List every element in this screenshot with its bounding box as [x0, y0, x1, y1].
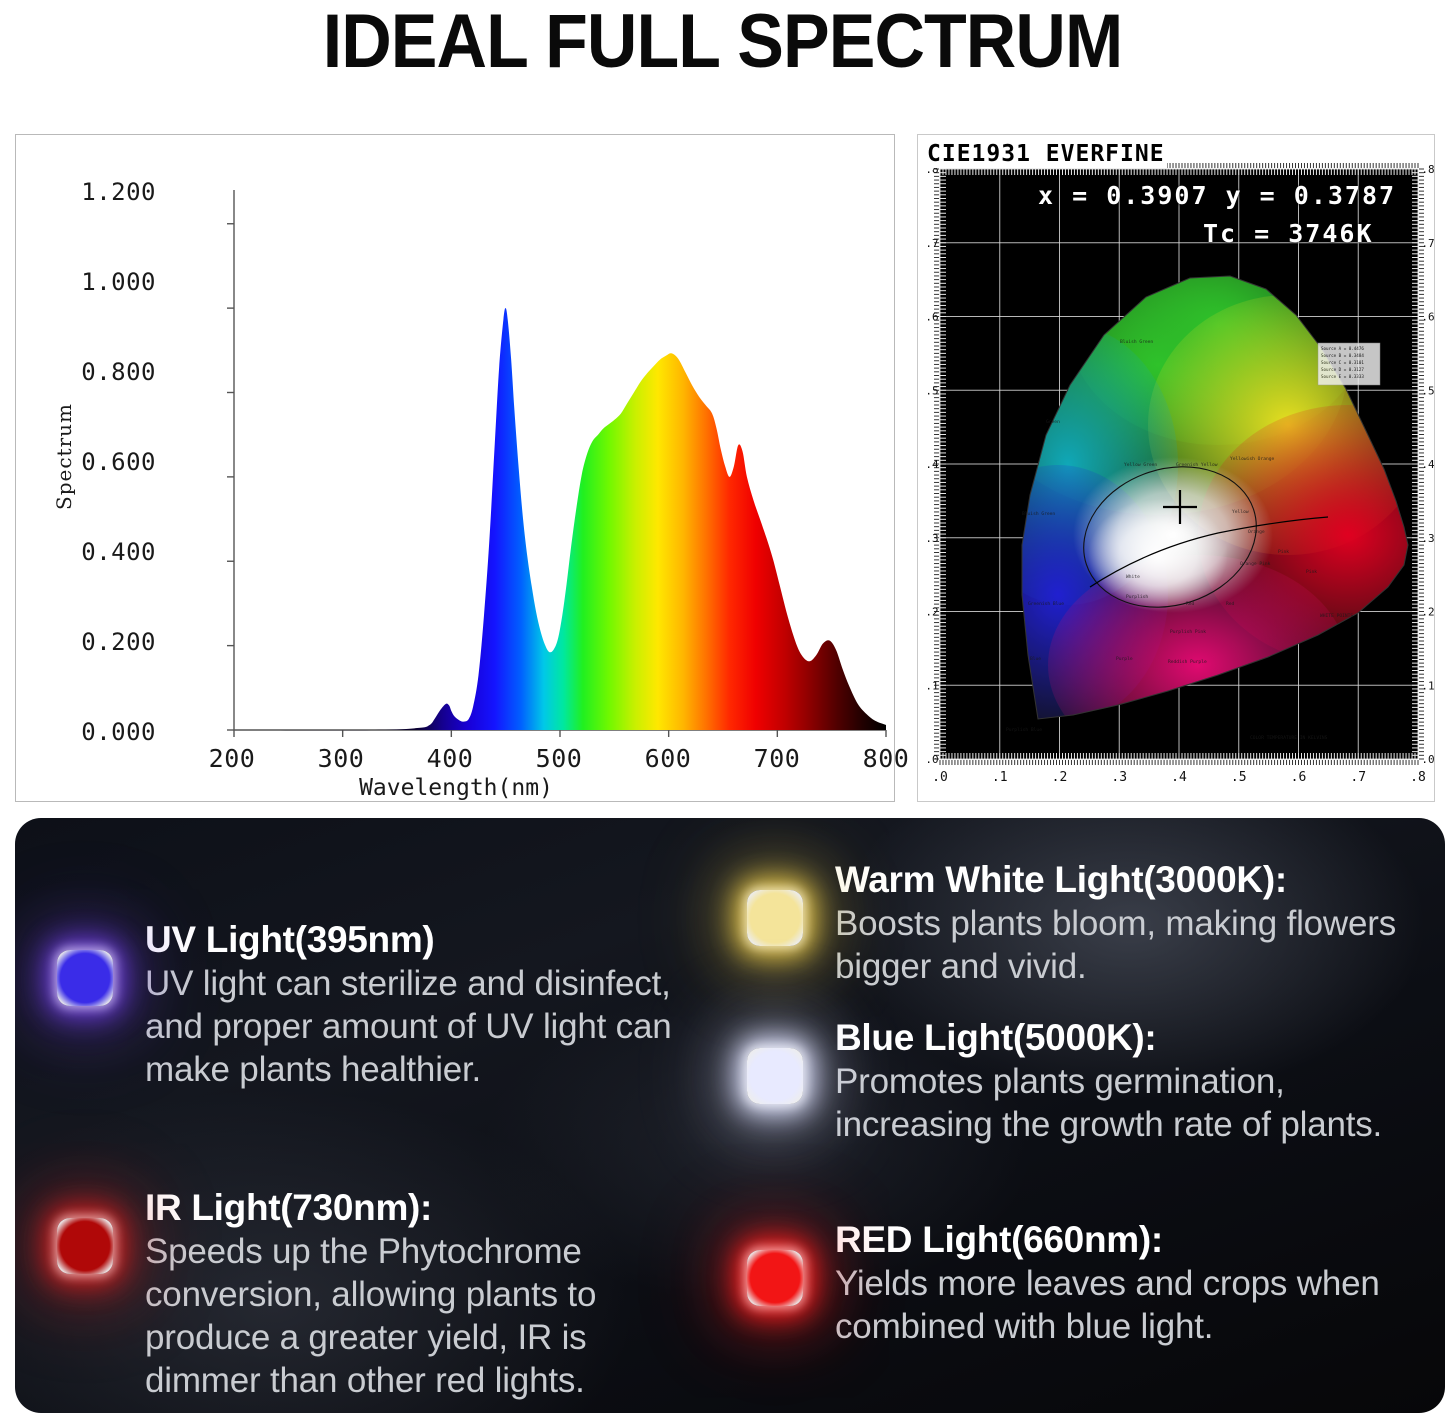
svg-text:Green: Green: [1046, 419, 1060, 425]
svg-text:Bluish Green: Bluish Green: [1120, 339, 1153, 345]
feature-ir-title: IR Light(730nm):: [145, 1186, 705, 1230]
svg-text:Greenish Blue: Greenish Blue: [1028, 601, 1064, 607]
svg-text:Greenish Yellow: Greenish Yellow: [1176, 462, 1218, 468]
svg-text:.1: .1: [1421, 679, 1434, 692]
svg-text:.7: .7: [1421, 237, 1434, 250]
svg-text:Orange Pink: Orange Pink: [1240, 561, 1271, 567]
feature-ir-desc: Speeds up the Phytochrome conversion, al…: [145, 1230, 705, 1402]
svg-text:White: White: [1126, 574, 1140, 580]
svg-text:.5: .5: [1421, 384, 1434, 397]
spectrum-area-fill: [234, 308, 886, 730]
feature-ir-text: IR Light(730nm): Speeds up the Phytochro…: [145, 1186, 705, 1402]
spectrum-plot-area: Spectrum 1.200 1.000 0.800 0.600 0.400 0…: [16, 135, 894, 801]
feature-uv-title: UV Light(395nm): [145, 918, 705, 962]
red-led-swatch-wrap: [715, 1218, 835, 1338]
svg-text:.2: .2: [925, 606, 938, 619]
cie1931-panel: Source A = 0.4476 Source B = 0.3484 Sour…: [917, 134, 1435, 802]
svg-text:COLOR TEMPERATURE IN KELVINS: COLOR TEMPERATURE IN KELVINS: [1250, 735, 1328, 741]
svg-text:.8: .8: [1410, 770, 1426, 785]
feature-red-text: RED Light(660nm): Yields more leaves and…: [835, 1218, 1435, 1348]
svg-text:Source D = 0.3127: Source D = 0.3127: [1321, 367, 1364, 372]
feature-blue-title: Blue Light(5000K):: [835, 1016, 1435, 1060]
feature-warm-white-text: Warm White Light(3000K): Boosts plants b…: [835, 858, 1435, 988]
blue-led-icon: [747, 1048, 803, 1104]
spectrum-curve: [16, 135, 896, 803]
spectrum-chart-panel: Spectrum 1.200 1.000 0.800 0.600 0.400 0…: [15, 134, 895, 802]
cie-heading: CIE1931 EVERFINE: [926, 141, 1167, 168]
feature-blue: Blue Light(5000K): Promotes plants germi…: [715, 1016, 1435, 1146]
feature-warm-white: Warm White Light(3000K): Boosts plants b…: [715, 858, 1435, 988]
blue-led-swatch-wrap: [715, 1016, 835, 1136]
svg-text:Red: Red: [1186, 601, 1195, 607]
feature-ir: IR Light(730nm): Speeds up the Phytochro…: [25, 1186, 705, 1402]
svg-text:Purple: Purple: [1116, 656, 1133, 662]
svg-text:Blue: Blue: [1030, 656, 1041, 662]
svg-text:.3: .3: [925, 532, 938, 545]
svg-text:.6: .6: [1421, 311, 1434, 324]
svg-text:.2: .2: [1421, 606, 1434, 619]
svg-text:Purplish: Purplish: [1126, 594, 1148, 600]
feature-uv-desc: UV light can sterilize and disinfect, an…: [145, 962, 705, 1091]
warm-white-led-icon: [747, 890, 803, 946]
svg-text:Source A = 0.4476: Source A = 0.4476: [1321, 346, 1364, 351]
svg-text:.5: .5: [1231, 770, 1247, 785]
svg-text:.4: .4: [1421, 458, 1435, 471]
svg-text:.6: .6: [925, 311, 938, 324]
svg-text:.0: .0: [1421, 753, 1434, 766]
feature-blue-desc: Promotes plants germination, increasing …: [835, 1060, 1435, 1146]
svg-text:.7: .7: [925, 237, 938, 250]
svg-text:Purplish Pink: Purplish Pink: [1170, 629, 1206, 635]
feature-warm-white-desc: Boosts plants bloom, making flowers bigg…: [835, 902, 1435, 988]
feature-red-title: RED Light(660nm):: [835, 1218, 1435, 1262]
ir-led-icon: [57, 1218, 113, 1274]
svg-text:Pink: Pink: [1306, 569, 1317, 575]
svg-text:Red: Red: [1226, 601, 1235, 607]
feature-blue-text: Blue Light(5000K): Promotes plants germi…: [835, 1016, 1435, 1146]
svg-text:.1: .1: [992, 770, 1008, 785]
svg-text:.4: .4: [1171, 770, 1187, 785]
warm-white-led-swatch-wrap: [715, 858, 835, 978]
svg-text:Pink: Pink: [1278, 549, 1289, 555]
cie-legend-box: Source A = 0.4476 Source B = 0.3484 Sour…: [1318, 343, 1380, 385]
features-panel: UV Light(395nm) UV light can sterilize a…: [15, 818, 1445, 1413]
svg-text:.3: .3: [1111, 770, 1127, 785]
svg-text:.0: .0: [932, 770, 948, 785]
feature-uv: UV Light(395nm) UV light can sterilize a…: [25, 918, 705, 1091]
feature-warm-white-title: Warm White Light(3000K):: [835, 858, 1435, 902]
svg-text:.0: .0: [925, 753, 938, 766]
feature-uv-text: UV Light(395nm) UV light can sterilize a…: [145, 918, 705, 1091]
svg-text:.8: .8: [1421, 163, 1434, 176]
infographic-page: IDEAL FULL SPECTRUM Spectrum 1.200 1.000…: [0, 0, 1445, 1413]
svg-text:Orange: Orange: [1248, 529, 1265, 535]
svg-text:Source E = 0.3333: Source E = 0.3333: [1321, 374, 1364, 379]
ir-led-swatch-wrap: [25, 1186, 145, 1306]
page-title: IDEAL FULL SPECTRUM: [58, 0, 1387, 90]
svg-text:Yellow: Yellow: [1232, 509, 1249, 515]
red-led-icon: [747, 1250, 803, 1306]
svg-text:.2: .2: [1052, 770, 1068, 785]
svg-text:.4: .4: [925, 458, 939, 471]
uv-led-swatch-wrap: [25, 918, 145, 1038]
cie-xy-readout: x = 0.3907 y = 0.3787: [1038, 181, 1396, 210]
feature-red: RED Light(660nm): Yields more leaves and…: [715, 1218, 1435, 1348]
svg-text:.6: .6: [1291, 770, 1307, 785]
uv-led-icon: [57, 950, 113, 1006]
svg-text:Bluish Green: Bluish Green: [1022, 511, 1055, 517]
cie-tc-readout: Tc = 3746K: [1203, 219, 1374, 248]
svg-text:Yellow Green: Yellow Green: [1124, 462, 1157, 468]
svg-text:Yellowish Orange: Yellowish Orange: [1230, 456, 1274, 462]
svg-text:Source C = 0.3101: Source C = 0.3101: [1321, 360, 1364, 365]
svg-text:WHITE POINTS: WHITE POINTS: [1320, 613, 1353, 619]
svg-text:.5: .5: [925, 384, 938, 397]
svg-text:Purplish Blue: Purplish Blue: [1006, 727, 1042, 733]
svg-text:.7: .7: [1350, 770, 1366, 785]
feature-red-desc: Yields more leaves and crops when combin…: [835, 1262, 1435, 1348]
svg-text:.1: .1: [925, 679, 938, 692]
svg-text:Source B = 0.3484: Source B = 0.3484: [1321, 353, 1364, 358]
svg-text:.3: .3: [1421, 532, 1434, 545]
svg-text:Reddish Purple: Reddish Purple: [1168, 659, 1207, 665]
